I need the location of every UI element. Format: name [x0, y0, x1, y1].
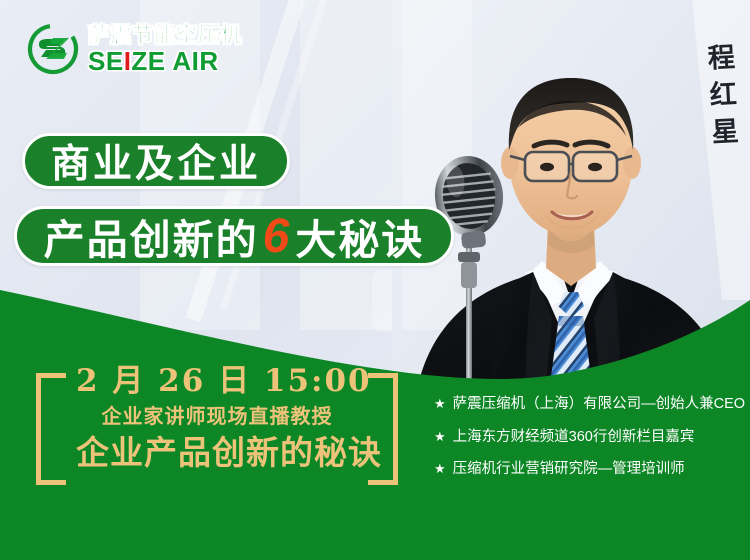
event-date-stack: 2 月 26 日 15:00 企业家讲师现场直播教授 企业产品创新的秘诀 — [76, 364, 358, 473]
list-item: ★ 压缩机行业营销研究院—管理培训师 — [434, 460, 740, 480]
credential-text: 压缩机行业营销研究院—管理培训师 — [453, 460, 685, 480]
event-topic: 企业产品创新的秘诀 — [76, 432, 358, 473]
event-subtitle: 企业家讲师现场直播教授 — [76, 400, 358, 432]
star-icon: ★ — [434, 460, 446, 479]
star-icon: ★ — [434, 428, 446, 447]
green-section-content: 2 月 26 日 15:00 企业家讲师现场直播教授 企业产品创新的秘诀 ★ 萨… — [0, 0, 750, 560]
event-date-time: 2 月 26 日 15:00 — [76, 364, 358, 400]
promo-poster: 程红星 萨震节能空压机 SEIZE AIR 商业及企业 产品创新的6大秘诀 — [0, 0, 750, 560]
credential-text: 上海东方财经频道360行创新栏目嘉宾 — [453, 428, 695, 448]
star-icon: ★ — [434, 395, 446, 414]
event-details-block: 2 月 26 日 15:00 企业家讲师现场直播教授 企业产品创新的秘诀 — [36, 364, 398, 494]
bracket-left-decoration — [36, 373, 66, 485]
list-item: ★ 上海东方财经频道360行创新栏目嘉宾 — [434, 428, 740, 448]
credentials-list: ★ 萨震压缩机（上海）有限公司—创始人兼CEO ★ 上海东方财经频道360行创新… — [434, 395, 740, 493]
credential-text: 萨震压缩机（上海）有限公司—创始人兼CEO — [453, 395, 745, 415]
list-item: ★ 萨震压缩机（上海）有限公司—创始人兼CEO — [434, 395, 740, 415]
